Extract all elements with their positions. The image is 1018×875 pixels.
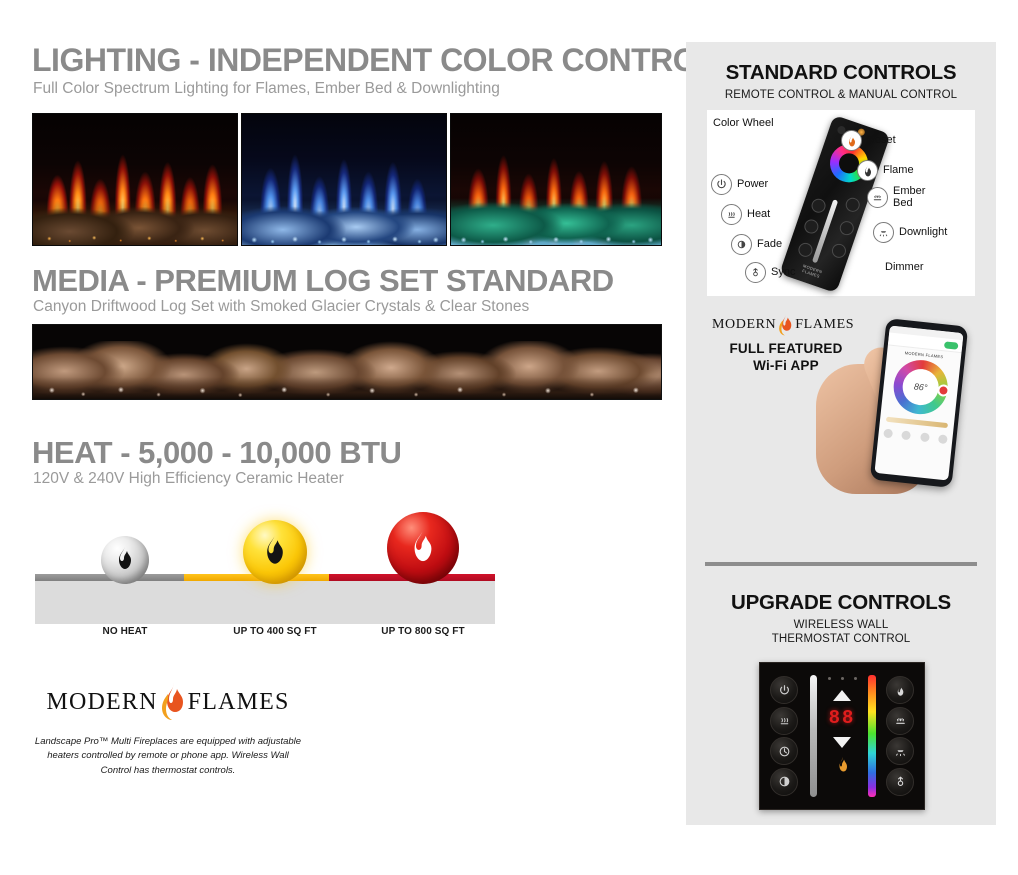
status-led <box>828 677 831 680</box>
downlight-icon[interactable] <box>886 737 914 765</box>
phone-settings-icon[interactable] <box>938 434 948 444</box>
media-section-subtitle: Canyon Driftwood Log Set with Smoked Gla… <box>33 298 529 315</box>
logo-word-flames: FLAMES <box>188 690 290 714</box>
heat-scale-diagram: NO HEAT UP TO 400 SQ FT UP TO 800 SQ FT <box>35 512 495 637</box>
reset-flame-icon <box>841 130 862 151</box>
callout-label: Sync <box>771 267 795 279</box>
hand-holding-phone-photo: MODERN FLAMES 86° <box>816 320 976 498</box>
wifi-logo-word-modern: MODERN <box>712 318 776 332</box>
wall-panel-right-buttons <box>886 675 914 797</box>
remote-control-diagram: MODERN FLAMES Color Wheel Power Heat <box>707 110 975 296</box>
infographic-page: LIGHTING - INDEPENDENT COLOR CONTROL Ful… <box>0 0 1018 875</box>
logo-word-modern: MODERN <box>46 690 157 714</box>
left-column: LIGHTING - INDEPENDENT COLOR CONTROL Ful… <box>0 0 686 875</box>
upgrade-subtitle-line-2: THERMOSTAT CONTROL <box>686 632 996 646</box>
sync-icon <box>745 262 766 283</box>
heat-label-no-heat: NO HEAT <box>57 626 193 637</box>
flame-glyph-icon <box>115 547 135 573</box>
right-panel: STANDARD CONTROLS REMOTE CONTROL & MANUA… <box>686 42 996 825</box>
ember-bed-icon <box>867 187 888 208</box>
fade-icon <box>731 234 752 255</box>
flame-glyph-icon <box>262 535 288 569</box>
wall-panel-status-leds <box>828 677 857 680</box>
remote-brand-mark: MODERN FLAMES <box>793 261 830 282</box>
callout-label: Dimmer <box>885 262 924 274</box>
upgrade-controls-title: UPGRADE CONTROLS <box>686 592 996 615</box>
remote-sync-button[interactable] <box>797 241 815 259</box>
heat-section-subtitle: 120V & 240V High Efficiency Ceramic Heat… <box>33 470 344 487</box>
phone-screen: MODERN FLAMES 86° <box>874 326 963 481</box>
lighting-section-title: LIGHTING - INDEPENDENT COLOR CONTROL <box>32 44 716 76</box>
disclaimer-text: Landscape Pro™ Multi Fireplaces are equi… <box>33 735 303 778</box>
callout-label: Ember Bed <box>893 186 945 209</box>
callout-reset: Reset <box>841 130 896 151</box>
flame-glyph-icon <box>409 530 437 567</box>
downlight-icon <box>873 222 894 243</box>
heat-section-title: HEAT - 5,000 - 10,000 BTU <box>32 437 401 468</box>
upgrade-subtitle-line-1: WIRELESS WALL <box>686 618 996 632</box>
section-divider <box>705 562 977 566</box>
orange-flame-photo <box>32 113 238 246</box>
ember-bed-icon[interactable] <box>886 707 914 735</box>
callout-label: Power <box>737 179 768 191</box>
status-led <box>841 677 844 680</box>
modern-flames-logo: MODERN FLAMES <box>33 683 303 721</box>
yellow-flame-orb <box>243 520 307 584</box>
remote-flame-button[interactable] <box>844 196 862 214</box>
callout-flame: Flame <box>857 160 914 181</box>
red-flame-orb <box>387 512 459 584</box>
temperature-down-button[interactable] <box>833 737 851 748</box>
wall-panel-flame-icon <box>836 757 849 775</box>
phone-icon-row <box>878 428 953 445</box>
callout-downlight: Downlight <box>873 222 947 243</box>
phone-flame-icon[interactable] <box>883 428 893 438</box>
callout-ember-bed: Ember Bed <box>867 186 945 209</box>
smartphone-device: MODERN FLAMES 86° <box>870 318 968 488</box>
wireless-wall-control-panel: 88 <box>759 662 925 810</box>
log-set-photo <box>32 324 662 400</box>
callout-sync: Sync <box>745 262 795 283</box>
brand-logo-block: MODERN FLAMES Landscape Pro™ Multi Firep… <box>33 683 303 778</box>
standard-controls-title: STANDARD CONTROLS <box>686 62 996 85</box>
phone-heat-icon[interactable] <box>920 432 930 442</box>
status-led <box>854 677 857 680</box>
callout-dimmer: Dimmer <box>885 262 924 274</box>
wall-panel-color-strip[interactable] <box>868 675 876 797</box>
heat-icon <box>721 204 742 225</box>
callout-label: Heat <box>747 209 770 221</box>
callout-label: Color Wheel <box>713 118 774 130</box>
callout-heat: Heat <box>721 204 770 225</box>
callout-label: Reset <box>867 135 896 147</box>
thermostat-display: 88 <box>829 709 856 728</box>
callout-label: Flame <box>883 165 914 177</box>
wifi-app-block: MODERN FLAMES FULL FEATURED Wi-Fi APP <box>700 314 982 502</box>
phone-color-knob[interactable] <box>937 384 950 397</box>
temperature-up-button[interactable] <box>833 690 851 701</box>
phone-brightness-slider[interactable] <box>886 417 948 428</box>
power-icon <box>711 174 732 195</box>
heat-label-800: UP TO 800 SQ FT <box>335 626 511 637</box>
flame-icon <box>857 160 878 181</box>
silver-flame-orb <box>101 536 149 584</box>
remote-fade-button[interactable] <box>802 218 820 236</box>
blue-flame-photo <box>241 113 447 246</box>
wifi-logo-flame-icon <box>778 314 793 336</box>
callout-color-wheel: Color Wheel <box>713 118 774 130</box>
phone-toggle-pill[interactable] <box>944 341 959 349</box>
phone-color-wheel[interactable]: 86° <box>891 357 950 416</box>
remote-downlight-button[interactable] <box>830 242 848 260</box>
orange-teal-flame-photo <box>450 113 662 246</box>
remote-heat-button[interactable] <box>810 197 828 215</box>
callout-fade: Fade <box>731 234 782 255</box>
flame-image-strip <box>32 113 662 246</box>
sync-icon[interactable] <box>886 768 914 796</box>
remote-ember-button[interactable] <box>838 219 856 237</box>
media-section-title: MEDIA - PREMIUM LOG SET STANDARD <box>32 265 614 296</box>
lighting-section-subtitle: Full Color Spectrum Lighting for Flames,… <box>33 80 500 97</box>
callout-label: Fade <box>757 239 782 251</box>
standard-controls-subtitle: REMOTE CONTROL & MANUAL CONTROL <box>686 88 996 102</box>
phone-ember-icon[interactable] <box>901 430 911 440</box>
callout-power: Power <box>711 174 768 195</box>
upgrade-controls-subtitle: WIRELESS WALL THERMOSTAT CONTROL <box>686 618 996 646</box>
logo-flame-icon <box>160 683 186 721</box>
callout-label: Downlight <box>899 227 947 239</box>
flame-icon[interactable] <box>886 676 914 704</box>
